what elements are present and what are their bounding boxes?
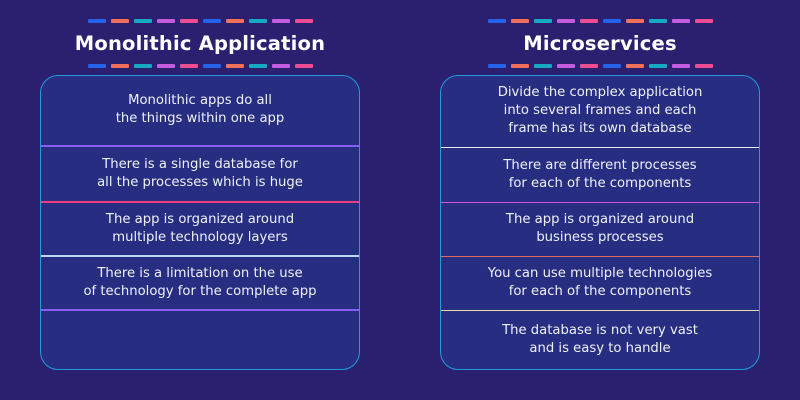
list-item-empty [41,311,359,369]
dash-ornament [580,64,598,68]
dash-ornament [134,64,152,68]
dash-ornament [111,19,129,23]
dash-ornament [272,19,290,23]
dash-ornament [580,19,598,23]
list-item: The app is organized around business pro… [441,203,759,255]
list-item-text: You can use multiple technologies for ea… [488,265,712,301]
list-item: There is a single database for all the p… [41,147,359,202]
dash-ornament [672,19,690,23]
dash-ornament [557,19,575,23]
dash-ornament [295,19,313,23]
dash-ornament [649,19,667,23]
dash-ornament [488,19,506,23]
list-item-text: There is a limitation on the use of tech… [83,265,316,301]
list-item: There is a limitation on the use of tech… [41,257,359,310]
dash-row-top-microservices [488,18,713,23]
list-item: Divide the complex application into seve… [441,76,759,147]
dash-ornament [488,64,506,68]
dash-ornament [511,64,529,68]
card-microservices: Divide the complex application into seve… [440,75,760,370]
dash-row-top-monolithic [88,18,313,23]
column-microservices: Microservices Divide the complex applica… [400,0,800,400]
dash-ornament [88,19,106,23]
dash-ornament [272,64,290,68]
column-title-microservices: Microservices [523,34,677,54]
list-item: Monolithic apps do all the things within… [41,76,359,146]
list-item-text: There is a single database for all the p… [97,156,303,192]
dash-ornament [226,64,244,68]
list-item-text: There are different processes for each o… [503,157,696,193]
dash-ornament [88,64,106,68]
dash-ornament [626,64,644,68]
list-item-text: The database is not very vast and is eas… [502,322,698,358]
dash-ornament [626,19,644,23]
dash-row-bottom-microservices [488,64,713,69]
list-item: The app is organized around multiple tec… [41,203,359,256]
dash-ornament [134,19,152,23]
dash-ornament [534,64,552,68]
dash-ornament [534,19,552,23]
dash-ornament [649,64,667,68]
dash-ornament [249,64,267,68]
comparison-infographic: Monolithic Application Monolithic apps d… [0,0,800,400]
list-item-text: Divide the complex application into seve… [498,84,703,139]
dash-ornament [695,19,713,23]
column-title-monolithic: Monolithic Application [75,34,325,54]
dash-ornament [180,19,198,23]
dash-ornament [603,64,621,68]
list-item: There are different processes for each o… [441,148,759,201]
dash-ornament [557,64,575,68]
dash-ornament [695,64,713,68]
dash-ornament [203,64,221,68]
list-item-text: The app is organized around business pro… [506,211,694,247]
list-item-text: Monolithic apps do all the things within… [116,92,285,128]
dash-ornament [157,64,175,68]
dash-ornament [180,64,198,68]
dash-ornament [511,19,529,23]
dash-ornament [672,64,690,68]
dash-ornament [203,19,221,23]
column-monolithic: Monolithic Application Monolithic apps d… [0,0,400,400]
heading-block-microservices: Microservices [400,0,800,69]
list-item: The database is not very vast and is eas… [441,311,759,368]
list-item-text: The app is organized around multiple tec… [106,211,294,247]
dash-row-bottom-monolithic [88,64,313,69]
dash-ornament [295,64,313,68]
dash-ornament [249,19,267,23]
list-item: You can use multiple technologies for ea… [441,257,759,309]
card-monolithic: Monolithic apps do all the things within… [40,75,360,370]
heading-block-monolithic: Monolithic Application [0,0,400,69]
dash-ornament [157,19,175,23]
dash-ornament [111,64,129,68]
dash-ornament [226,19,244,23]
dash-ornament [603,19,621,23]
